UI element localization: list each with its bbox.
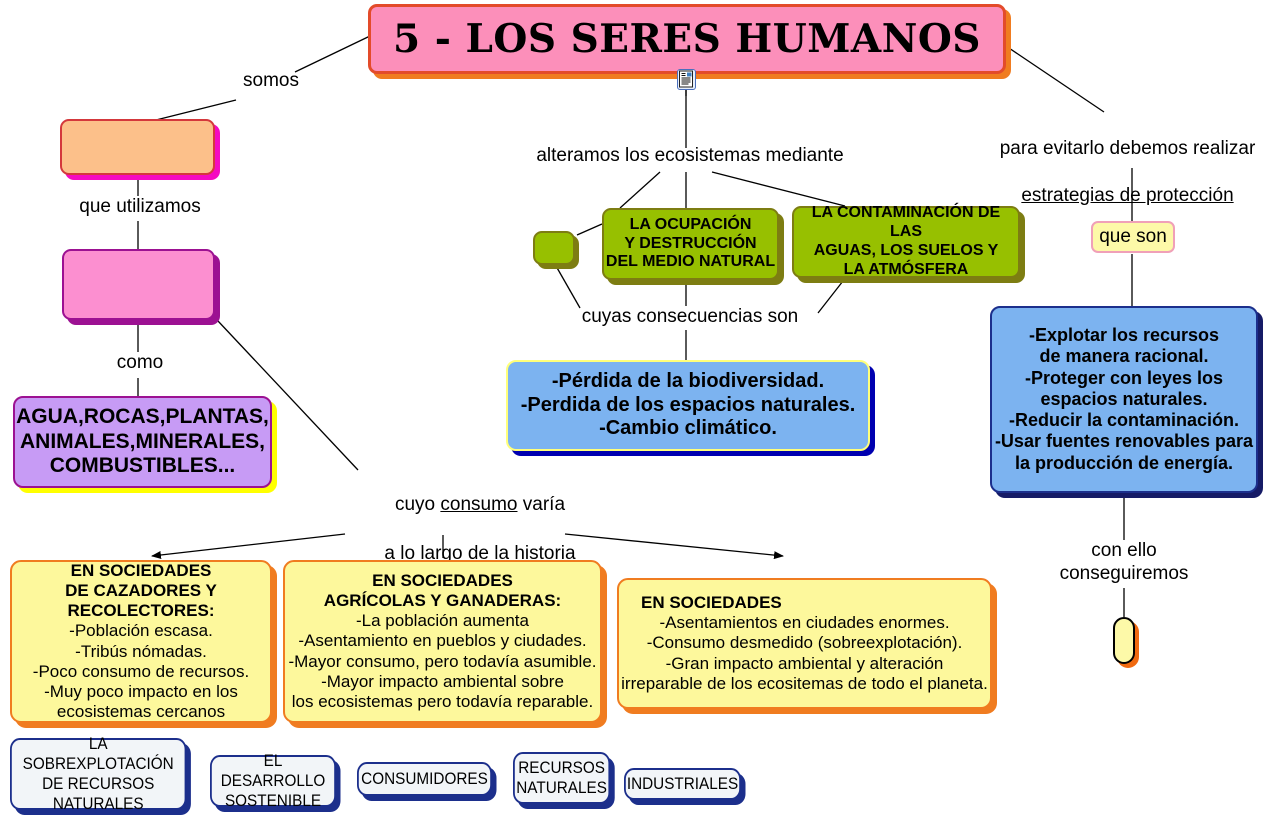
edge-label-que-utilizamos: que utilizamos [60, 196, 220, 219]
node-desarrollo-sostenible[interactable]: EL DESARROLLO SOSTENIBLE [210, 755, 336, 807]
node-estrategias-proteccion[interactable]: -Explotar los recursos de manera raciona… [990, 306, 1258, 493]
node-green-empty[interactable] [533, 231, 575, 265]
edge-label-como: como [90, 352, 190, 375]
node-ocupacion-destruccion[interactable]: LA OCUPACIÓN Y DESTRUCCIÓN DEL MEDIO NAT… [602, 208, 779, 280]
node-industriales[interactable]: INDUSTRIALES [624, 768, 741, 800]
node-que-son[interactable]: que son [1091, 221, 1175, 253]
node-orange-empty[interactable] [60, 119, 215, 175]
node-pink-empty[interactable] [62, 249, 215, 320]
node-consecuencias[interactable]: -Pérdida de la biodiversidad. -Perdida d… [506, 360, 870, 451]
sociedades-actuales-body: -Asentamientos en ciudades enormes. -Con… [619, 613, 990, 693]
edge-label-cuyas-consecuencias: cuyas consecuencias son [555, 306, 825, 329]
concept-map-canvas: 5 - LOS SERES HUMANOS somos que utilizam… [0, 0, 1285, 818]
para-evitarlo-line1: para evitarlo debemos realizar [1000, 138, 1256, 159]
sociedades-cazadores-header: EN SOCIEDADES DE CAZADORES Y RECOLECTORE… [12, 561, 270, 621]
cuyo-consumo-underlined: consumo [440, 494, 517, 515]
node-consumidores[interactable]: CONSUMIDORES [357, 762, 492, 796]
node-sobrexplotacion-recursos[interactable]: LA SOBREXPLOTACIÓN DE RECURSOS NATURALES [10, 738, 186, 810]
sociedades-agricolas-body: -La población aumenta -Asentamiento en p… [285, 611, 600, 711]
node-contaminacion[interactable]: LA CONTAMINACIÓN DE LAS AGUAS, LOS SUELO… [792, 206, 1020, 278]
edge-label-alteramos-ecosistemas: alteramos los ecosistemas mediante [500, 145, 880, 168]
sociedades-cazadores-body: -Población escasa. -Tribús nómadas. -Poc… [12, 621, 270, 721]
cuyo-consumo-post: varía [518, 494, 566, 515]
node-recursos-naturales-lista[interactable]: AGUA,ROCAS,PLANTAS, ANIMALES,MINERALES, … [13, 396, 272, 488]
sociedades-agricolas-header: EN SOCIEDADES AGRÍCOLAS Y GANADERAS: [285, 571, 600, 611]
node-sociedades-actuales[interactable]: EN SOCIEDADES-Asentamientos en ciudades … [617, 578, 992, 709]
edge-label-para-evitarlo: para evitarlo debemos realizar estrategi… [975, 113, 1280, 208]
edge-label-somos: somos [216, 70, 326, 93]
node-sociedades-agricolas[interactable]: EN SOCIEDADES AGRÍCOLAS Y GANADERAS:-La … [283, 560, 602, 723]
map-title-node[interactable]: 5 - LOS SERES HUMANOS [368, 4, 1006, 74]
para-evitarlo-line2: estrategias de protección [1021, 185, 1233, 206]
node-recursos-naturales[interactable]: RECURSOS NATURALES [513, 752, 610, 804]
document-resource-icon[interactable] [677, 69, 696, 90]
edge-label-con-ello-conseguiremos: con ello conseguiremos [1048, 540, 1200, 586]
node-pill-empty[interactable] [1113, 617, 1135, 664]
node-sociedades-cazadores[interactable]: EN SOCIEDADES DE CAZADORES Y RECOLECTORE… [10, 560, 272, 723]
cuyo-consumo-pre: cuyo [395, 494, 440, 515]
sociedades-actuales-header: EN SOCIEDADES [619, 593, 990, 613]
